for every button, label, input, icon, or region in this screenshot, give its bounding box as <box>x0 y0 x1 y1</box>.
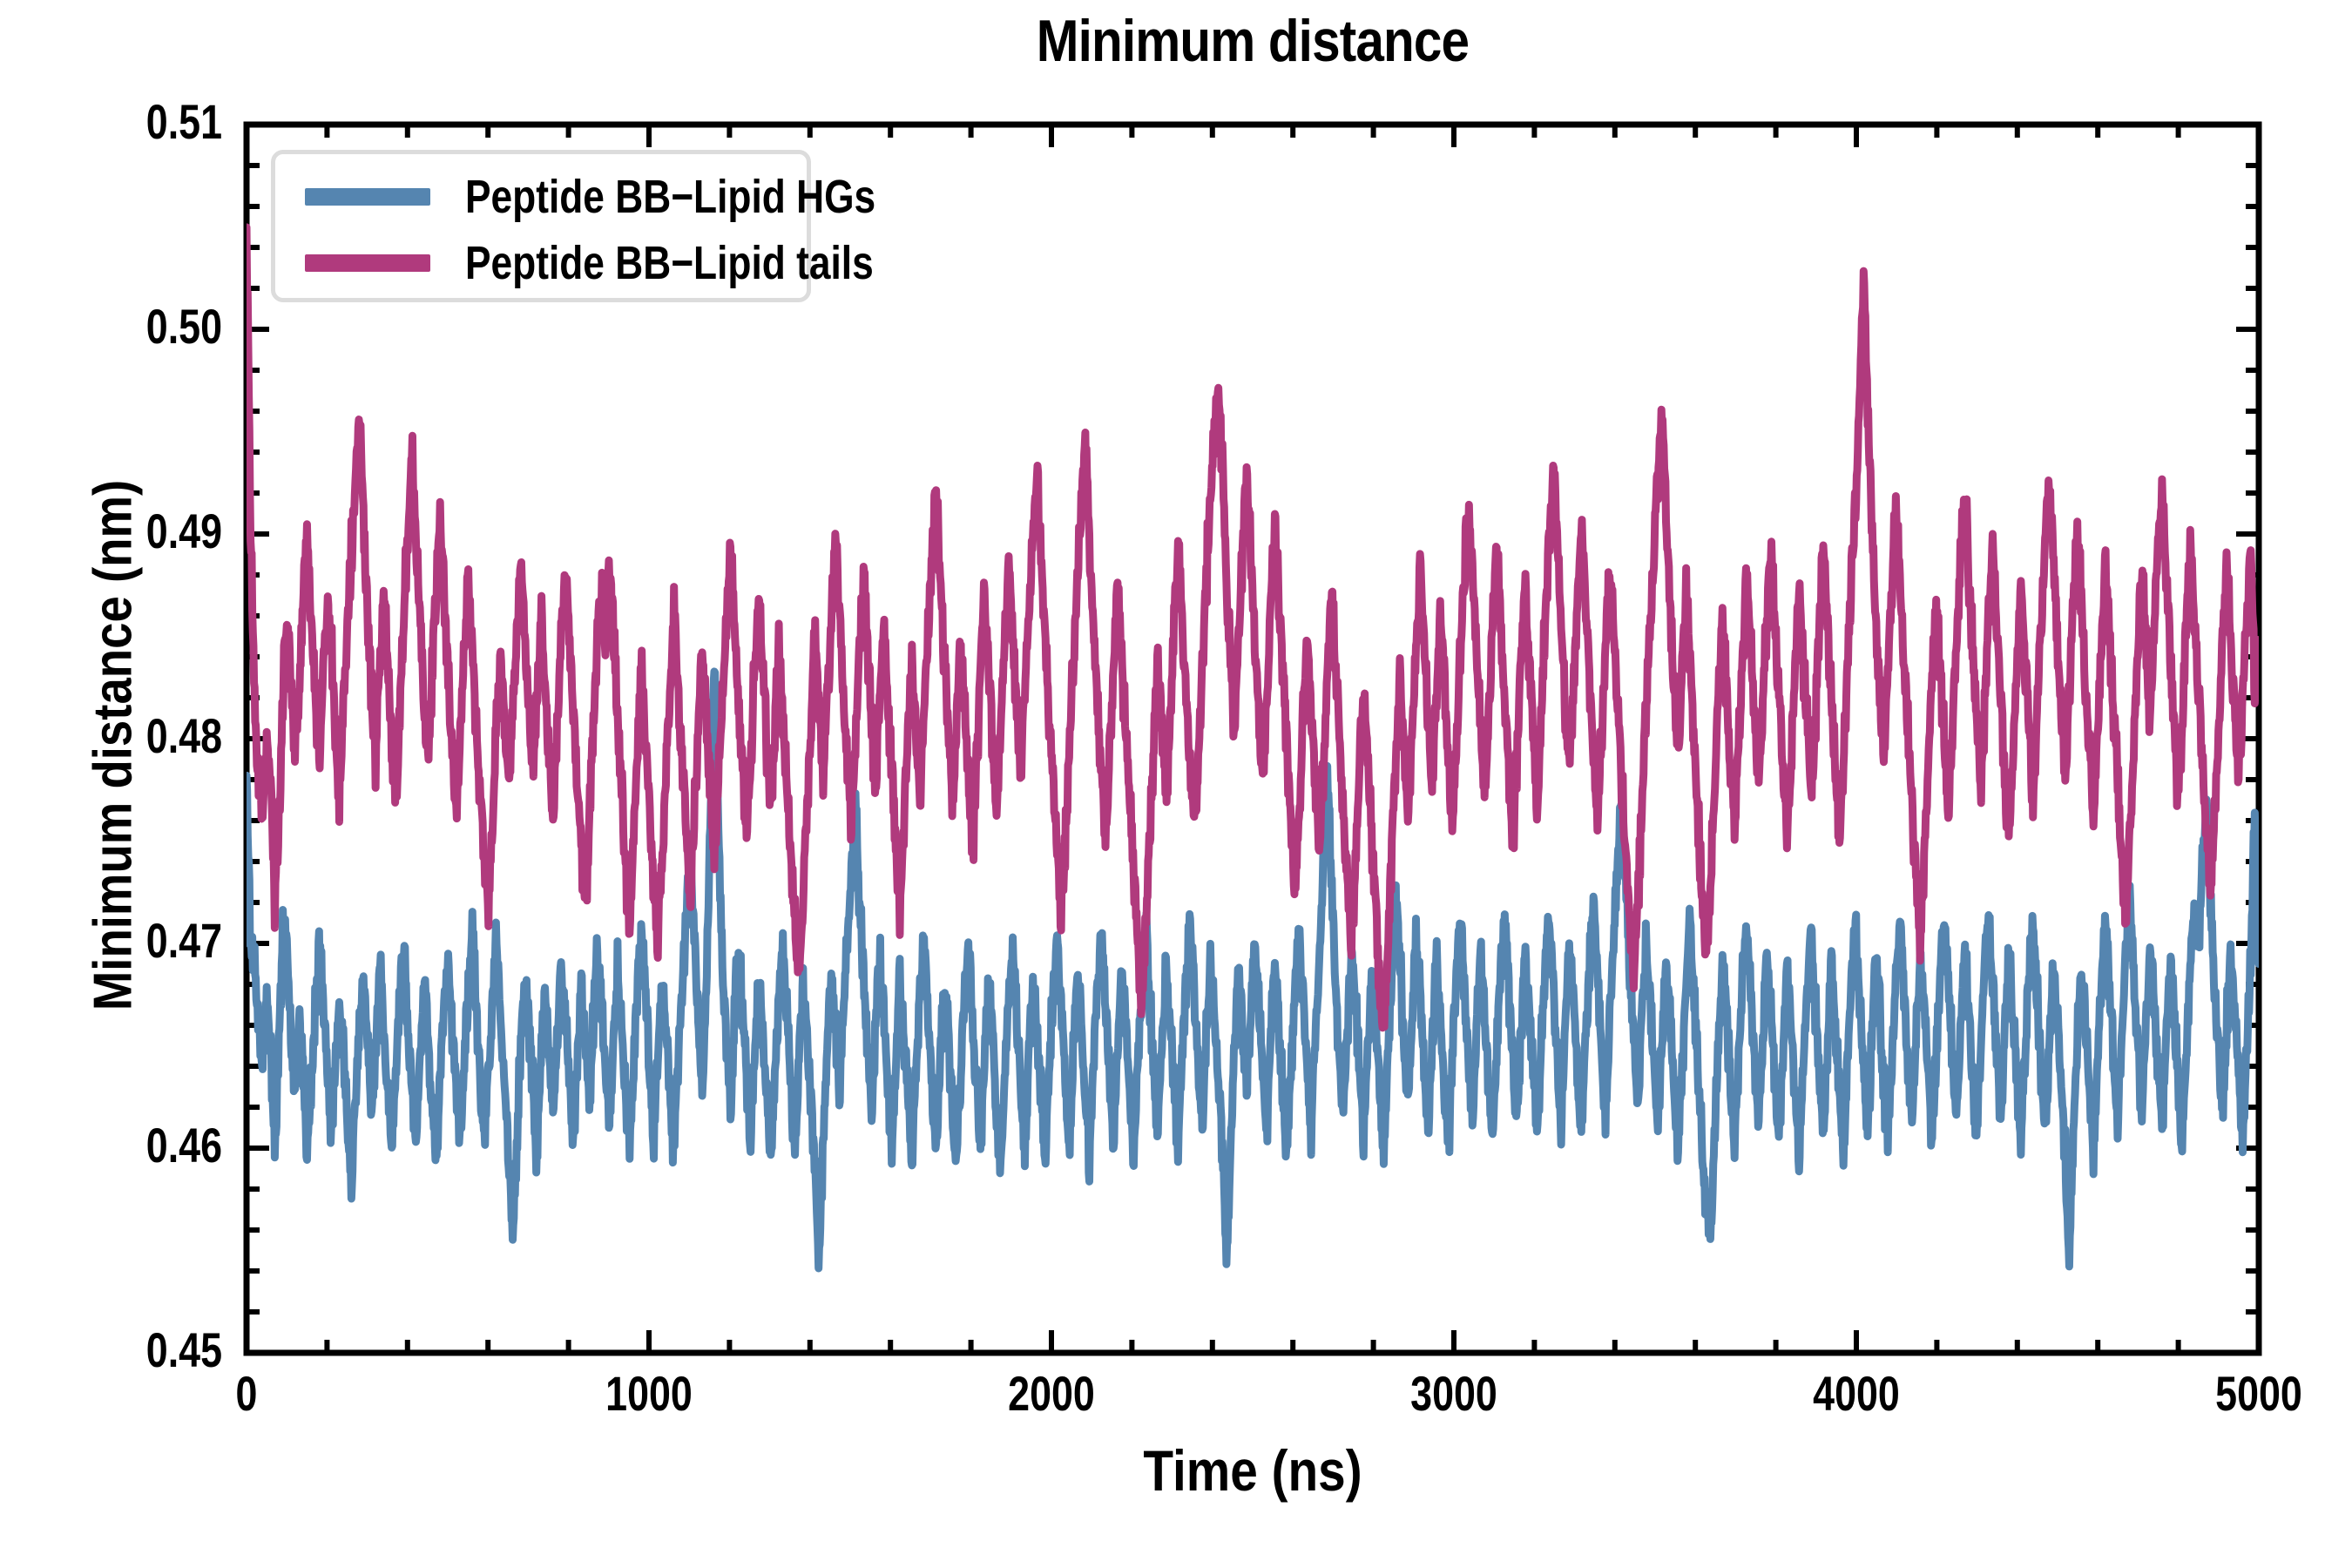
legend-label-peptide-bb-lipid-hgs: Peptide BB−Lipid HGs <box>465 170 875 224</box>
figure-container: Minimum distance Time (ns) Minimum dista… <box>0 0 2352 1568</box>
y-tick-label: 0.46 <box>146 1117 222 1173</box>
x-tick-label: 2000 <box>961 1365 1142 1422</box>
y-tick-label: 0.50 <box>146 298 222 355</box>
legend-swatch-peptide-bb-lipid-tails <box>305 254 430 272</box>
data-series <box>247 227 2259 1268</box>
y-tick-label: 0.49 <box>146 503 222 559</box>
series-line-peptide-bb-lipid-tails <box>247 227 2259 1028</box>
y-tick-label: 0.47 <box>146 912 222 969</box>
y-axis-label: Minimum distance (nm) <box>83 201 145 1290</box>
x-tick-label: 3000 <box>1363 1365 1544 1422</box>
chart-title: Minimum distance <box>388 7 2119 75</box>
legend-label-peptide-bb-lipid-tails: Peptide BB−Lipid tails <box>465 236 874 290</box>
legend-item-0[interactable]: Peptide BB−Lipid HGs <box>275 166 807 227</box>
x-tick-label: 5000 <box>2168 1365 2349 1422</box>
x-tick-label: 0 <box>156 1365 337 1422</box>
x-axis-label: Time (ns) <box>388 1437 2119 1504</box>
x-tick-label: 1000 <box>558 1365 740 1422</box>
legend[interactable]: Peptide BB−Lipid HGs Peptide BB−Lipid ta… <box>271 150 811 302</box>
legend-item-1[interactable]: Peptide BB−Lipid tails <box>275 233 807 294</box>
y-tick-label: 0.48 <box>146 707 222 764</box>
y-tick-label: 0.51 <box>146 93 222 150</box>
x-tick-label: 4000 <box>1766 1365 1947 1422</box>
legend-swatch-peptide-bb-lipid-hgs <box>305 188 430 206</box>
